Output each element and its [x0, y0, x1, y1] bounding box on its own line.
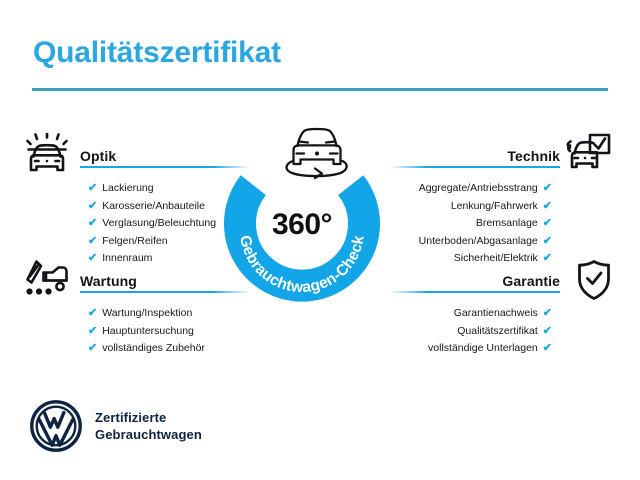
footer-line-1: Zertifizierte: [95, 409, 202, 426]
item-label: Hauptuntersuchung: [102, 323, 194, 341]
section-header: Optik: [80, 140, 250, 168]
list-item: ✔vollständiges Zubehör: [88, 340, 250, 358]
check-icon: ✔: [543, 218, 552, 229]
item-label: vollständiges Zubehör: [102, 340, 205, 358]
list-item: ✔Felgen/Reifen: [88, 233, 250, 251]
section-wartung: Wartung ✔Wartung/Inspektion ✔Hauptunters…: [80, 265, 250, 358]
check-icon: ✔: [543, 236, 552, 247]
footer-branding: Zertifizierte Gebrauchtwagen: [30, 400, 202, 452]
footer-text: Zertifizierte Gebrauchtwagen: [95, 409, 202, 443]
section-divider: [80, 166, 250, 168]
list-item: ✔Hauptuntersuchung: [88, 323, 250, 341]
list-item: vollständige Unterlagen✔: [390, 340, 552, 358]
section-garantie: Garantie Garantienachweis✔ Qualitätszert…: [390, 265, 560, 358]
check-icon: ✔: [88, 343, 97, 354]
check-icon: ✔: [88, 236, 97, 247]
checklist-garantie: Garantienachweis✔ Qualitätszertifikat✔ v…: [390, 305, 560, 358]
check-icon: ✔: [88, 218, 97, 229]
section-divider: [390, 291, 560, 293]
list-item: Garantienachweis✔: [390, 305, 552, 323]
certificate-page: Qualitätszertifikat: [0, 0, 640, 480]
list-item: ✔Karosserie/Anbauteile: [88, 198, 250, 216]
section-title-optik: Optik: [80, 148, 116, 164]
list-item: ✔Verglasung/Beleuchtung: [88, 215, 250, 233]
check-icon: ✔: [88, 253, 97, 264]
list-item: Aggregate/Antriebsstrang✔: [390, 180, 552, 198]
list-item: ✔Wartung/Inspektion: [88, 305, 250, 323]
checklist-technik: Aggregate/Antriebsstrang✔ Lenkung/Fahrwe…: [390, 180, 560, 268]
car-shine-icon: [24, 133, 70, 177]
item-label: Garantienachweis: [454, 305, 538, 323]
check-icon: ✔: [88, 308, 97, 319]
check-icon: ✔: [88, 326, 97, 337]
item-label: Verglasung/Beleuchtung: [102, 215, 216, 233]
section-divider: [80, 291, 250, 293]
footer-line-2: Gebrauchtwagen: [95, 426, 202, 443]
item-label: Wartung/Inspektion: [102, 305, 192, 323]
item-label: Bremsanlage: [476, 215, 538, 233]
list-item: Bremsanlage✔: [390, 215, 552, 233]
section-title-garantie: Garantie: [502, 273, 560, 289]
checklist-wartung: ✔Wartung/Inspektion ✔Hauptuntersuchung ✔…: [80, 305, 250, 358]
item-label: Unterboden/Abgasanlage: [419, 233, 538, 251]
section-title-technik: Technik: [507, 148, 560, 164]
check-icon: ✔: [543, 326, 552, 337]
item-label: Lackierung: [102, 180, 153, 198]
check-icon: ✔: [543, 343, 552, 354]
title-divider: [32, 88, 608, 91]
list-item: Lenkung/Fahrwerk✔: [390, 198, 552, 216]
section-technik: Technik Aggregate/Antriebsstrang✔ Lenkun…: [390, 140, 560, 268]
check-icon: ✔: [543, 253, 552, 264]
item-label: Felgen/Reifen: [102, 233, 167, 251]
shield-check-icon: [571, 258, 617, 302]
check-icon: ✔: [543, 183, 552, 194]
list-item: ✔Lackierung: [88, 180, 250, 198]
check-icon: ✔: [543, 308, 552, 319]
list-item: Unterboden/Abgasanlage✔: [390, 233, 552, 251]
check-icon: ✔: [88, 183, 97, 194]
item-label: Lenkung/Fahrwerk: [451, 198, 538, 216]
section-optik: Optik ✔Lackierung ✔Karosserie/Anbauteile…: [80, 140, 250, 268]
section-header: Technik: [390, 140, 560, 168]
item-label: Aggregate/Antriebsstrang: [419, 180, 538, 198]
volkswagen-logo: [30, 400, 82, 452]
section-header: Wartung: [80, 265, 250, 293]
checklist-optik: ✔Lackierung ✔Karosserie/Anbauteile ✔Verg…: [80, 180, 250, 268]
item-label: vollständige Unterlagen: [428, 340, 538, 358]
car-360-rotation-icon: [277, 124, 357, 182]
list-item: Qualitätszertifikat✔: [390, 323, 552, 341]
check-icon: ✔: [543, 201, 552, 212]
section-title-wartung: Wartung: [80, 273, 137, 289]
wrench-car-service-icon: [24, 258, 70, 302]
item-label: Karosserie/Anbauteile: [102, 198, 205, 216]
section-header: Garantie: [390, 265, 560, 293]
check-icon: ✔: [88, 201, 97, 212]
section-divider: [390, 166, 560, 168]
item-label: Qualitätszertifikat: [457, 323, 538, 341]
car-checkbox-icon: [566, 131, 612, 175]
page-title: Qualitätszertifikat: [33, 36, 281, 70]
